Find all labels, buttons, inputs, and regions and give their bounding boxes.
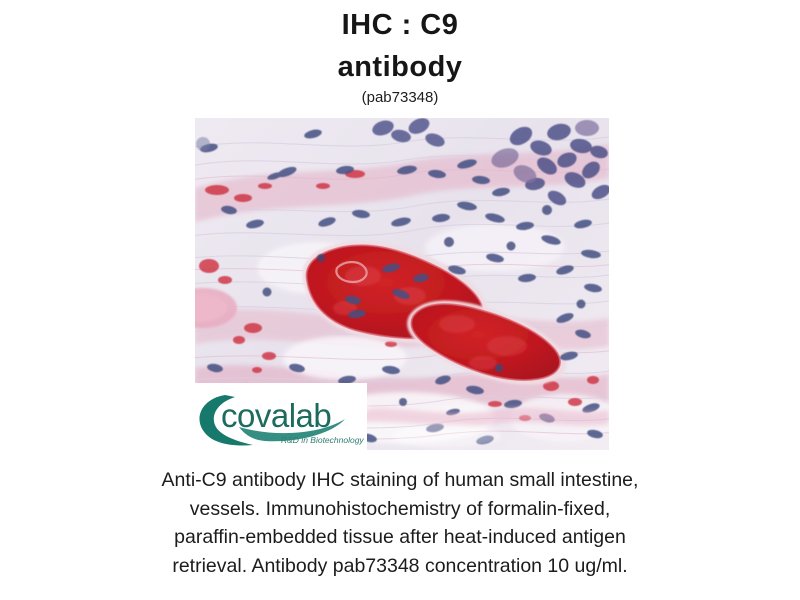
caption-line-2: vessels. Immunohistochemistry of formali… (60, 495, 740, 524)
caption-line-1: Anti-C9 antibody IHC staining of human s… (60, 466, 740, 495)
catalog-number: (pab73348) (0, 88, 800, 107)
page-title: IHC : C9 antibody (pab73348) (0, 0, 800, 107)
caption-line-3: paraffin-embedded tissue after heat-indu… (60, 523, 740, 552)
caption-line-4: retrieval. Antibody pab73348 concentrati… (60, 552, 740, 581)
covalab-brand-text: covalab (221, 397, 331, 434)
covalab-watermark: covalab R&D in Biotechnology (195, 383, 367, 450)
title-line-1: IHC : C9 (0, 4, 800, 46)
figure-container: covalab R&D in Biotechnology (195, 118, 609, 450)
covalab-tagline-text: R&D in Biotechnology (281, 435, 364, 445)
title-line-2: antibody (0, 46, 800, 88)
covalab-logo-svg: covalab R&D in Biotechnology (195, 383, 367, 450)
figure-caption: Anti-C9 antibody IHC staining of human s… (60, 466, 740, 580)
